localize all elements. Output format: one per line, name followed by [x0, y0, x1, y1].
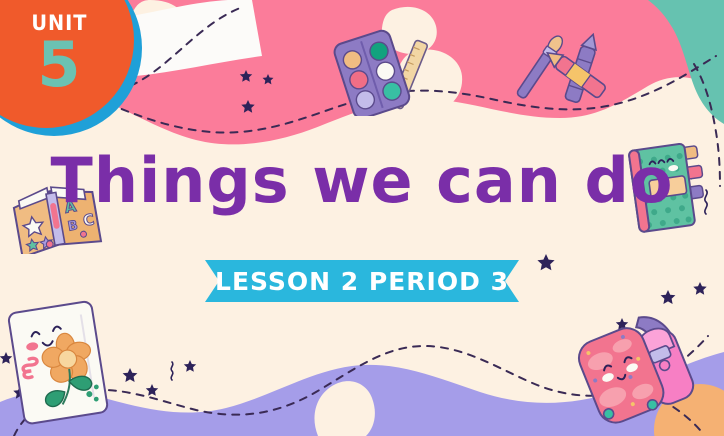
unit-number: 5 [37, 36, 80, 95]
brush-and-crayons-icon [508, 28, 628, 110]
title-block: Things we can do [0, 150, 724, 212]
slide-canvas: UNIT 5 [0, 0, 724, 436]
banner-label: LESSON 2 PERIOD 3 [205, 260, 519, 302]
paint-palette-icon [326, 24, 444, 116]
unit-badge-content: UNIT 5 [0, 0, 134, 128]
unit-badge: UNIT 5 [0, 0, 142, 136]
flower-drawing-icon [2, 296, 122, 430]
lesson-banner: LESSON 2 PERIOD 3 [205, 260, 519, 302]
backpack-icon [574, 300, 700, 430]
page-title: Things we can do [0, 150, 724, 212]
unit-label: UNIT [31, 13, 87, 34]
